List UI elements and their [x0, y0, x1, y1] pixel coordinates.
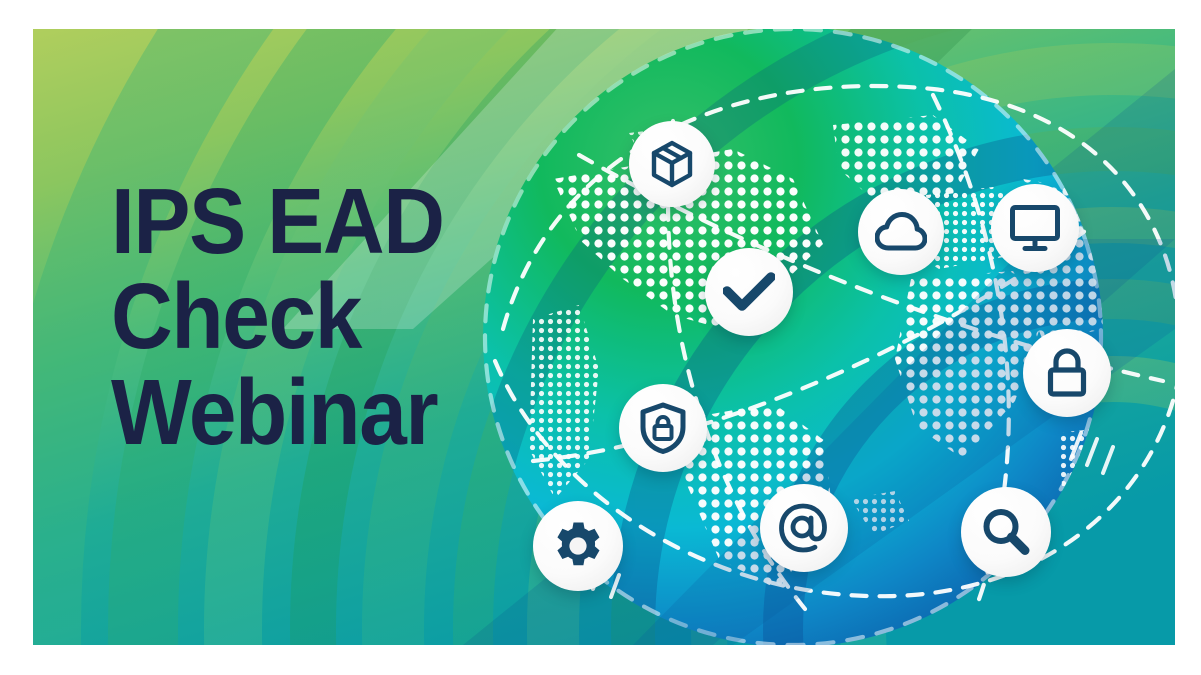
shield-lock-icon — [619, 384, 707, 472]
screenshot-root: IPS EAD Check Webinar — [0, 0, 1201, 675]
gear-icon — [533, 501, 623, 591]
at-sign-icon — [760, 484, 848, 572]
banner-title: IPS EAD Check Webinar — [111, 177, 531, 463]
checkmark-icon — [705, 248, 793, 336]
title-line-3: Webinar — [111, 368, 497, 457]
magnifier-icon — [961, 487, 1051, 577]
title-line-2: Check — [111, 272, 497, 361]
monitor-icon — [991, 184, 1079, 272]
cloud-icon — [858, 189, 944, 275]
webinar-banner: IPS EAD Check Webinar — [33, 29, 1175, 645]
padlock-icon — [1023, 329, 1111, 417]
package-box-icon — [629, 121, 715, 207]
title-line-1: IPS EAD — [111, 177, 497, 266]
